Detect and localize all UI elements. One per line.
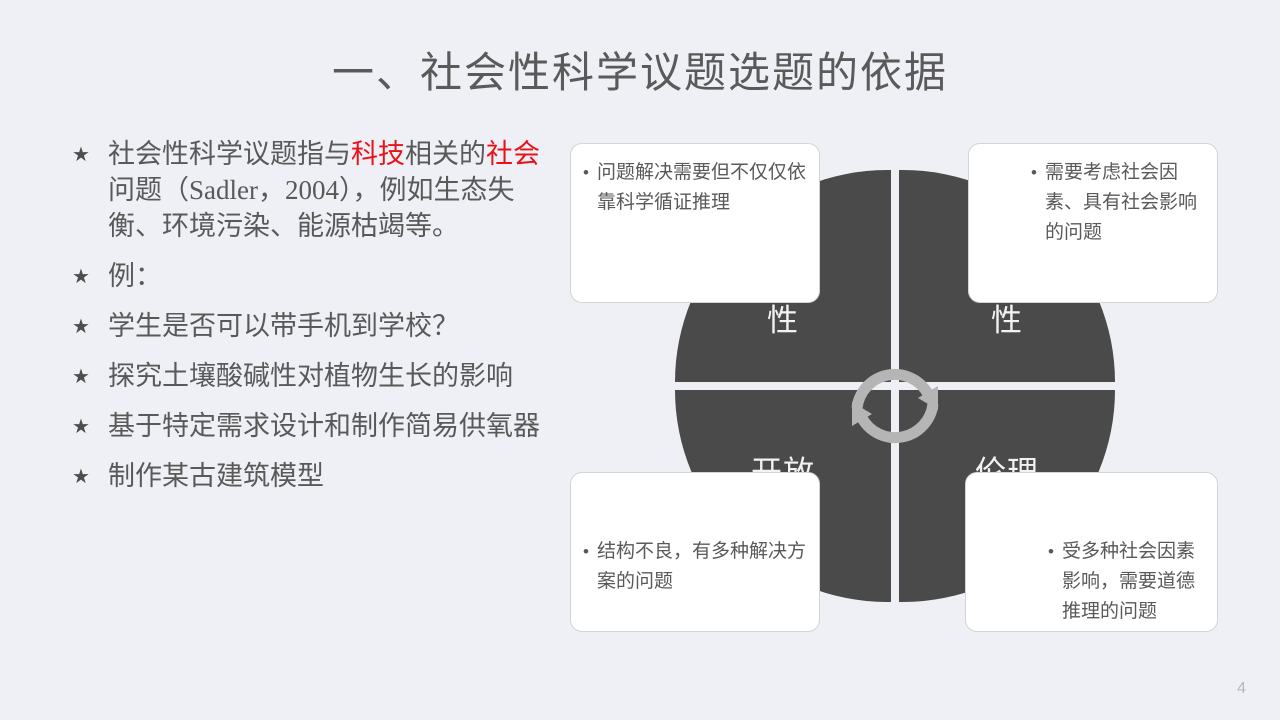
list-item-text: 例： bbox=[108, 258, 552, 294]
bullet-list: ★ 社会性科学议题指与科技相关的社会问题（Sadler，2004），例如生态失衡… bbox=[72, 136, 552, 508]
list-item-text: 基于特定需求设计和制作简易供氧器 bbox=[108, 408, 552, 444]
callout-text: 受多种社会因素影响，需要道德推理的问题 bbox=[1062, 537, 1205, 627]
callout-text: 问题解决需要但不仅仅依靠科学循证推理 bbox=[597, 158, 809, 218]
list-item: ★ 社会性科学议题指与科技相关的社会问题（Sadler，2004），例如生态失衡… bbox=[72, 136, 552, 244]
callout-bottom-right[interactable]: • 受多种社会因素影响，需要道德推理的问题 bbox=[965, 472, 1218, 632]
star-bullet-icon: ★ bbox=[72, 136, 108, 172]
list-item-text: 探究土壤酸碱性对植物生长的影响 bbox=[108, 358, 552, 394]
list-item: ★ 制作某古建筑模型 bbox=[72, 458, 552, 494]
text-segment: 社会性科学议题指与 bbox=[108, 139, 351, 169]
page-number: 4 bbox=[1237, 680, 1246, 698]
bullet-dot-icon: • bbox=[583, 158, 597, 188]
bullet-dot-icon: • bbox=[1048, 537, 1062, 567]
list-item-text: 制作某古建筑模型 bbox=[108, 458, 552, 494]
list-item: ★ 基于特定需求设计和制作简易供氧器 bbox=[72, 408, 552, 444]
star-bullet-icon: ★ bbox=[72, 458, 108, 494]
list-item: ★ 例： bbox=[72, 258, 552, 294]
list-item-text: 社会性科学议题指与科技相关的社会问题（Sadler，2004），例如生态失衡、环… bbox=[108, 136, 552, 244]
text-segment: 问题（Sadler，2004），例如生态失衡、环境污染、能源枯竭等。 bbox=[108, 175, 514, 241]
callout-top-right[interactable]: • 需要考虑社会因素、具有社会影响的问题 bbox=[968, 143, 1218, 303]
list-item-text: 学生是否可以带手机到学校？ bbox=[108, 308, 552, 344]
list-item: ★ 学生是否可以带手机到学校？ bbox=[72, 308, 552, 344]
callout-bottom-left[interactable]: • 结构不良，有多种解决方案的问题 bbox=[570, 472, 820, 632]
callout-text: 需要考虑社会因素、具有社会影响的问题 bbox=[1045, 158, 1205, 248]
quadrant-label-line2: 性 bbox=[675, 300, 891, 342]
page-title: 一、社会性科学议题选题的依据 bbox=[0, 48, 1280, 98]
bullet-dot-icon: • bbox=[583, 537, 597, 567]
list-item: ★ 探究土壤酸碱性对植物生长的影响 bbox=[72, 358, 552, 394]
highlighted-term: 社会 bbox=[486, 139, 540, 169]
star-bullet-icon: ★ bbox=[72, 358, 108, 394]
text-segment: 相关的 bbox=[405, 139, 486, 169]
highlighted-term: 科技 bbox=[351, 139, 405, 169]
star-bullet-icon: ★ bbox=[72, 408, 108, 444]
four-quadrant-diagram: 科学 性 社会 性 开放 性 伦理 性 bbox=[560, 130, 1230, 670]
callout-text: 结构不良，有多种解决方案的问题 bbox=[597, 537, 809, 597]
callout-top-left[interactable]: • 问题解决需要但不仅仅依靠科学循证推理 bbox=[570, 143, 820, 303]
star-bullet-icon: ★ bbox=[72, 308, 108, 344]
quadrant-label-line2: 性 bbox=[899, 300, 1115, 342]
bullet-dot-icon: • bbox=[1031, 158, 1045, 188]
star-bullet-icon: ★ bbox=[72, 258, 108, 294]
